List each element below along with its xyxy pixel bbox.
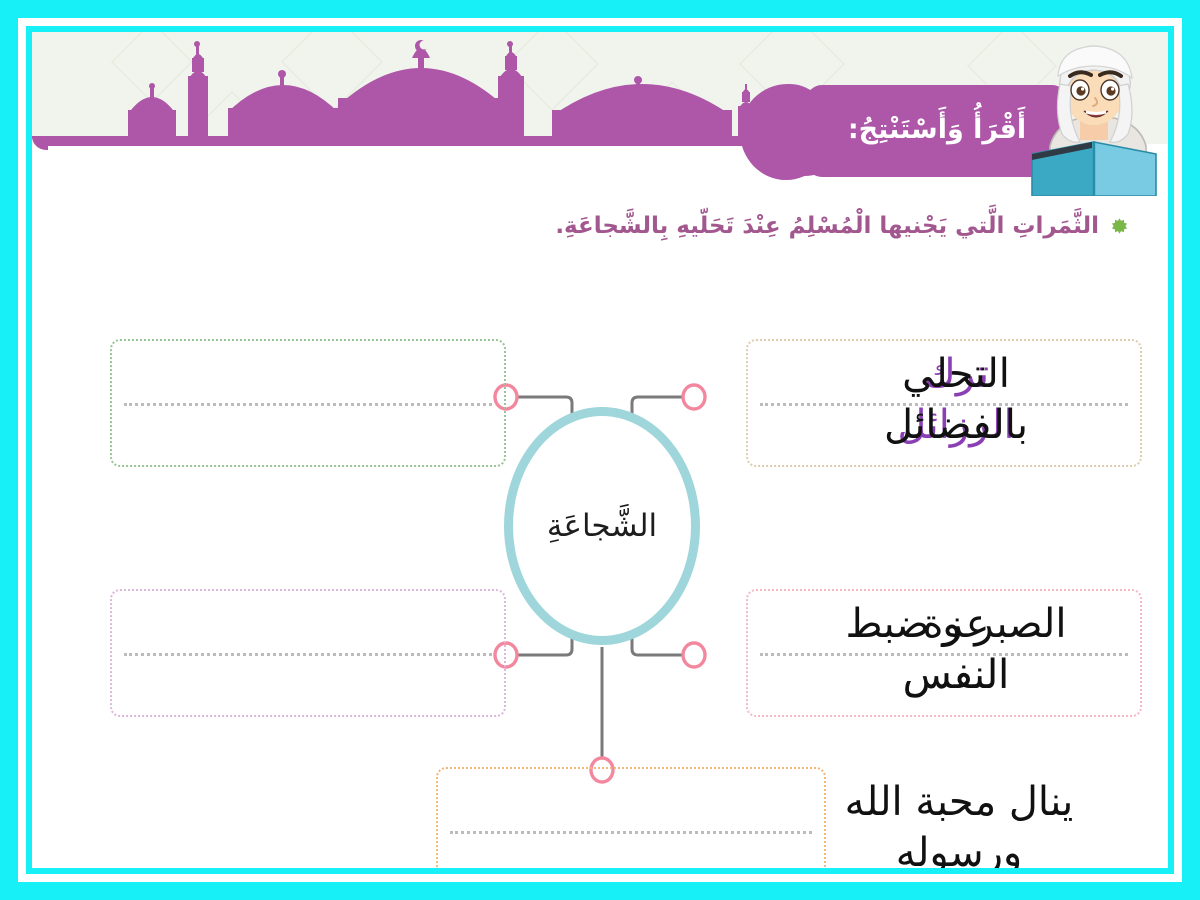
node-circle-top-right — [683, 385, 705, 409]
node-circle-middle-right — [683, 643, 705, 667]
worksheet-page: أَقْرَأُ وَأَسْتَنْتِجُ: — [0, 0, 1200, 900]
header-divider — [32, 136, 862, 146]
green-starburst-bullet-icon — [1111, 218, 1128, 235]
branch-box-bottom[interactable] — [436, 767, 826, 868]
branch-box-middle-right[interactable] — [746, 589, 1142, 717]
page-content: أَقْرَأُ وَأَسْتَنْتِجُ: — [32, 32, 1168, 868]
question-row: الثَّمَراتِ الَّتي يَجْنيها الْمُسْلِمُ … — [72, 210, 1128, 242]
question-text: الثَّمَراتِ الَّتي يَجْنيها الْمُسْلِمُ … — [555, 210, 1099, 242]
header-divider-cap — [32, 136, 48, 150]
branch-box-top-right[interactable] — [746, 339, 1142, 467]
writing-line — [760, 403, 1128, 406]
branch-box-middle-left[interactable] — [110, 589, 506, 717]
writing-line — [124, 653, 492, 656]
boy-reading-book-icon — [1022, 32, 1168, 196]
writing-line — [760, 653, 1128, 656]
center-node-label: الشَّجاعَةِ — [547, 508, 657, 544]
branch-box-top-left[interactable] — [110, 339, 506, 467]
writing-line — [124, 403, 492, 406]
mind-map-diagram: ترك الرزائل التحلي بالفضائل الصبر و ضبط … — [32, 267, 1168, 868]
banner-title-text: أَقْرَأُ وَأَسْتَنْتِجُ: — [834, 114, 1040, 149]
center-node-oval: الشَّجاعَةِ — [504, 407, 700, 645]
writing-line — [450, 831, 812, 834]
